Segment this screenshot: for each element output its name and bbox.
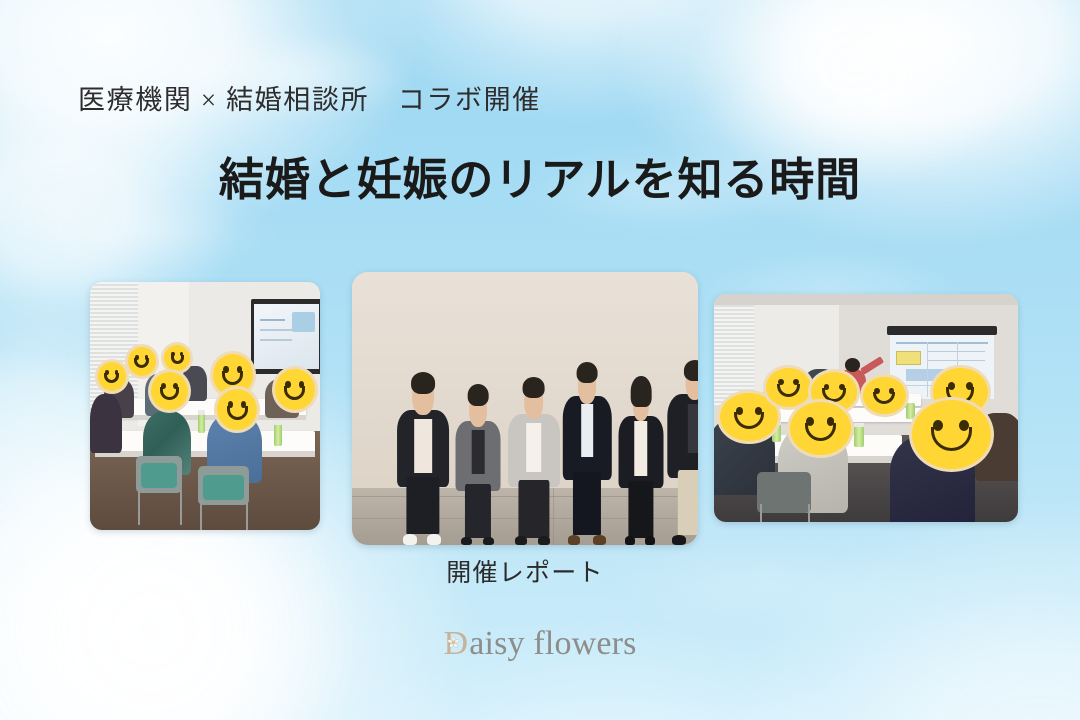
logo-wordmark: aisy flowers (469, 625, 636, 662)
photo-center-group (352, 272, 698, 545)
group-person-2 (456, 376, 501, 545)
smiley-sticker (787, 399, 854, 458)
smiley-sticker (95, 359, 130, 394)
poster-canvas: 医療機関 × 結婚相談所 コラボ開催 結婚と妊娠のリアルを知る時間 (0, 0, 1080, 720)
poster-subtitle: 医療機関 × 結婚相談所 コラボ開催 (78, 78, 541, 117)
group-person-3 (508, 370, 560, 545)
photo-left-seminar-room (90, 282, 320, 530)
page-title: 結婚と妊娠のリアルを知る時間 (0, 143, 1080, 208)
smiley-sticker (860, 374, 909, 417)
group-person-5 (618, 373, 663, 545)
group-person-6 (667, 354, 698, 545)
report-caption: 開催レポート (352, 553, 698, 589)
cloud-wisp-3 (40, 200, 280, 270)
group-person-1 (397, 365, 449, 545)
smiley-sticker (272, 366, 318, 413)
brand-logo: Daisy flowers (0, 627, 1080, 673)
smiley-sticker (125, 344, 160, 379)
daisy-flower-icon (446, 636, 461, 651)
photo-right-presentation (714, 294, 1018, 522)
group-person-4 (563, 354, 611, 545)
smiley-sticker (909, 397, 994, 472)
